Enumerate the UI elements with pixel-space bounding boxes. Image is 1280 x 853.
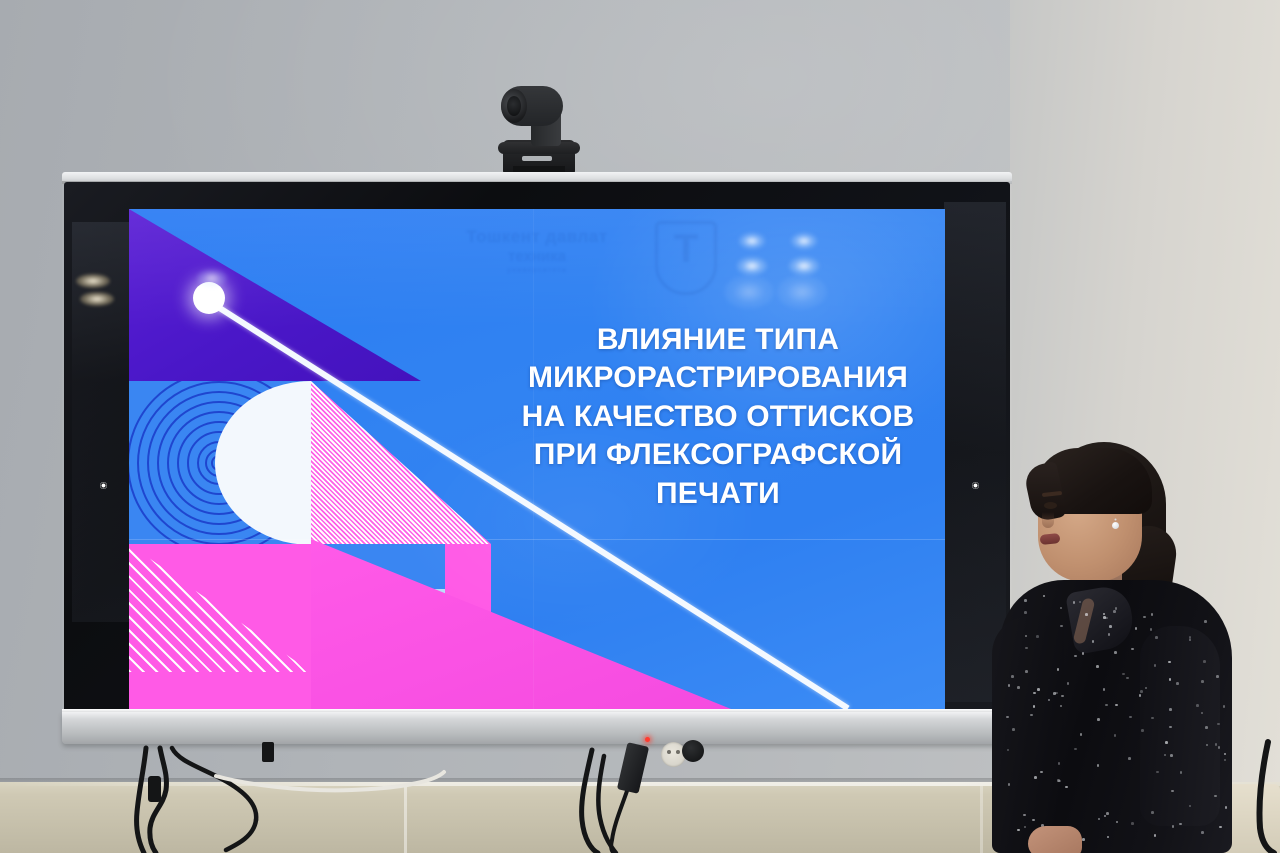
polka-dot bbox=[1024, 599, 1027, 602]
polka-dot bbox=[1103, 688, 1106, 691]
polka-dot bbox=[1024, 611, 1027, 614]
polka-dot bbox=[1032, 819, 1035, 822]
watermark-line-3: университети bbox=[429, 267, 645, 274]
polka-dot bbox=[1114, 734, 1117, 737]
polka-dot bbox=[1011, 675, 1014, 678]
polka-dot bbox=[1030, 714, 1033, 717]
title-line: НА КАЧЕСТВО ОТТИСКОВ bbox=[503, 398, 933, 436]
title-line: МИКРОРАСТРИРОВАНИЯ bbox=[503, 359, 933, 397]
purple-triangle bbox=[129, 209, 421, 381]
polka-dot bbox=[1073, 601, 1076, 604]
camera-status-strip bbox=[522, 156, 552, 161]
polka-dot bbox=[1040, 771, 1043, 774]
polka-dot bbox=[1060, 705, 1063, 708]
slide-canvas[interactable]: Тошкент давлат техника университети T ВЛ… bbox=[129, 209, 945, 709]
polka-dot bbox=[1061, 695, 1064, 698]
polka-dot bbox=[1219, 826, 1222, 829]
polka-dot bbox=[1105, 704, 1108, 707]
polka-dot bbox=[1223, 705, 1226, 708]
lamp-reflection bbox=[80, 292, 114, 306]
title-line: ПРИ ФЛЕКСОГРАФСКОЙ bbox=[503, 436, 933, 474]
polka-dot bbox=[1179, 823, 1182, 826]
polka-dot bbox=[1218, 746, 1221, 749]
polka-dot bbox=[1224, 753, 1227, 756]
polka-dot bbox=[1204, 620, 1207, 623]
polka-dot bbox=[1034, 776, 1037, 779]
polka-dot bbox=[1074, 655, 1077, 658]
white-dot bbox=[193, 282, 225, 314]
polka-dot bbox=[1180, 771, 1183, 774]
polka-dot bbox=[1113, 610, 1116, 613]
polka-dot bbox=[1139, 694, 1142, 697]
polka-dot bbox=[1017, 829, 1020, 832]
polka-dot bbox=[1145, 687, 1148, 690]
polka-dot-pattern bbox=[1000, 580, 1232, 853]
polka-dot bbox=[1196, 704, 1199, 707]
polka-dot bbox=[1023, 814, 1026, 817]
polka-dot bbox=[1006, 716, 1009, 719]
display-control-bar[interactable] bbox=[62, 712, 1012, 744]
display-bezel: Тошкент давлат техника университети T ВЛ… bbox=[64, 182, 1010, 714]
polka-dot bbox=[1201, 712, 1204, 715]
watermark-line-2: техника bbox=[429, 248, 645, 265]
lamp-reflection bbox=[76, 274, 110, 288]
polka-dot bbox=[1058, 762, 1061, 765]
polka-dot bbox=[1103, 616, 1106, 619]
polka-dot bbox=[1106, 812, 1109, 815]
polka-dot bbox=[1082, 838, 1085, 841]
polka-dot bbox=[1079, 601, 1082, 604]
polka-dot bbox=[1154, 834, 1157, 837]
polka-dot bbox=[1057, 668, 1060, 671]
polka-dot bbox=[1060, 607, 1063, 610]
interactive-display[interactable]: Тошкент давлат техника университети T ВЛ… bbox=[62, 172, 1012, 747]
polka-dot bbox=[1171, 790, 1174, 793]
polka-dot bbox=[1131, 822, 1134, 825]
polka-dot bbox=[1116, 821, 1119, 824]
polka-dot bbox=[1096, 665, 1099, 668]
polka-dot bbox=[1154, 664, 1157, 667]
ptz-camera-icon bbox=[489, 62, 587, 174]
polka-dot bbox=[1025, 670, 1028, 673]
polka-dot bbox=[1008, 783, 1011, 786]
polka-dot bbox=[1205, 726, 1208, 729]
polka-dot bbox=[1164, 754, 1167, 757]
polka-dot bbox=[1176, 682, 1179, 685]
polka-dot bbox=[1168, 661, 1171, 664]
polka-dot bbox=[1043, 595, 1046, 598]
polka-dot bbox=[1012, 728, 1015, 731]
polka-dot bbox=[1115, 704, 1118, 707]
polka-dot bbox=[1131, 648, 1134, 651]
polka-dot bbox=[1033, 705, 1036, 708]
polka-dot bbox=[1122, 673, 1125, 676]
polka-dot bbox=[1107, 836, 1110, 839]
polka-dot bbox=[1092, 640, 1095, 643]
polka-dot bbox=[1008, 684, 1011, 687]
room-photo: Тошкент давлат техника университети T ВЛ… bbox=[0, 0, 1280, 853]
polka-dot bbox=[1170, 754, 1173, 757]
polka-dot bbox=[1104, 815, 1107, 818]
polka-dot bbox=[1067, 682, 1070, 685]
wall-panel-seam bbox=[404, 786, 407, 853]
polka-dot bbox=[1201, 680, 1204, 683]
hand bbox=[1028, 826, 1082, 853]
polka-dot bbox=[1065, 786, 1068, 789]
polka-dot bbox=[1215, 743, 1218, 746]
polka-dot bbox=[1098, 818, 1101, 821]
polka-dot bbox=[1169, 726, 1172, 729]
polka-dot bbox=[1216, 675, 1219, 678]
polka-dot bbox=[1055, 692, 1058, 695]
polka-dot bbox=[1201, 831, 1204, 834]
polka-dot bbox=[1036, 635, 1039, 638]
polka-dot bbox=[1172, 825, 1175, 828]
polka-dot bbox=[1225, 806, 1228, 809]
polka-dot bbox=[1129, 716, 1132, 719]
title-line: ВЛИЯНИЕ ТИПА bbox=[503, 321, 933, 359]
polka-dot bbox=[1156, 771, 1159, 774]
polka-dot bbox=[1025, 647, 1028, 650]
polka-dot bbox=[1151, 811, 1154, 814]
eye bbox=[1044, 502, 1057, 509]
polka-dot bbox=[1017, 686, 1020, 689]
polka-dot bbox=[1048, 699, 1051, 702]
polka-dot bbox=[1151, 717, 1154, 720]
camera-aperture bbox=[507, 96, 521, 116]
polka-dot bbox=[1214, 795, 1217, 798]
polka-dot bbox=[1007, 749, 1010, 752]
polka-dot bbox=[1224, 759, 1227, 762]
polka-dot bbox=[1165, 741, 1168, 744]
polka-dot bbox=[1155, 636, 1158, 639]
slide-title: ВЛИЯНИЕ ТИПА МИКРОРАСТРИРОВАНИЯ НА КАЧЕС… bbox=[503, 321, 933, 513]
polka-dot bbox=[1033, 692, 1036, 695]
earring bbox=[1112, 522, 1119, 529]
polka-dot bbox=[1085, 613, 1088, 616]
polka-dot bbox=[1143, 616, 1146, 619]
polka-dot bbox=[1082, 652, 1085, 655]
adapter-led-icon bbox=[645, 737, 650, 742]
polka-dot bbox=[1140, 690, 1143, 693]
polka-dot bbox=[1169, 678, 1172, 681]
polka-dot bbox=[1057, 779, 1060, 782]
polka-dot bbox=[1189, 639, 1192, 642]
polka-dot bbox=[1128, 757, 1131, 760]
polka-dot bbox=[1108, 633, 1111, 636]
polka-dot bbox=[1141, 729, 1144, 732]
polka-dot bbox=[1189, 805, 1192, 808]
watermark-line-1: Тошкент давлат bbox=[429, 227, 645, 247]
polka-dot bbox=[1169, 708, 1172, 711]
polka-dot bbox=[1097, 718, 1100, 721]
polka-dot bbox=[1206, 744, 1209, 747]
polka-dot bbox=[1037, 688, 1040, 691]
polka-dot bbox=[1135, 627, 1138, 630]
polka-dot bbox=[1024, 826, 1027, 829]
polka-dot bbox=[1074, 748, 1077, 751]
polka-dot bbox=[1060, 625, 1063, 628]
polka-dot bbox=[1114, 651, 1117, 654]
polka-dot bbox=[1150, 628, 1153, 631]
university-watermark: Тошкент давлат техника университети T bbox=[429, 217, 729, 297]
title-line: ПЕЧАТИ bbox=[503, 475, 933, 513]
power-plug[interactable] bbox=[682, 740, 704, 762]
polka-dot bbox=[1151, 613, 1154, 616]
polka-dot bbox=[1097, 764, 1100, 767]
polka-dot bbox=[1109, 625, 1112, 628]
polka-dot bbox=[1217, 723, 1220, 726]
polka-dot bbox=[1080, 733, 1083, 736]
polka-dot bbox=[1025, 635, 1028, 638]
presenter bbox=[962, 430, 1280, 853]
polka-dot bbox=[1126, 677, 1129, 680]
nose bbox=[1042, 512, 1054, 528]
polka-dot bbox=[1103, 613, 1106, 616]
shield-letter: T bbox=[669, 229, 703, 269]
polka-dot bbox=[1203, 660, 1206, 663]
touch-sensor-marker-left bbox=[100, 482, 107, 489]
